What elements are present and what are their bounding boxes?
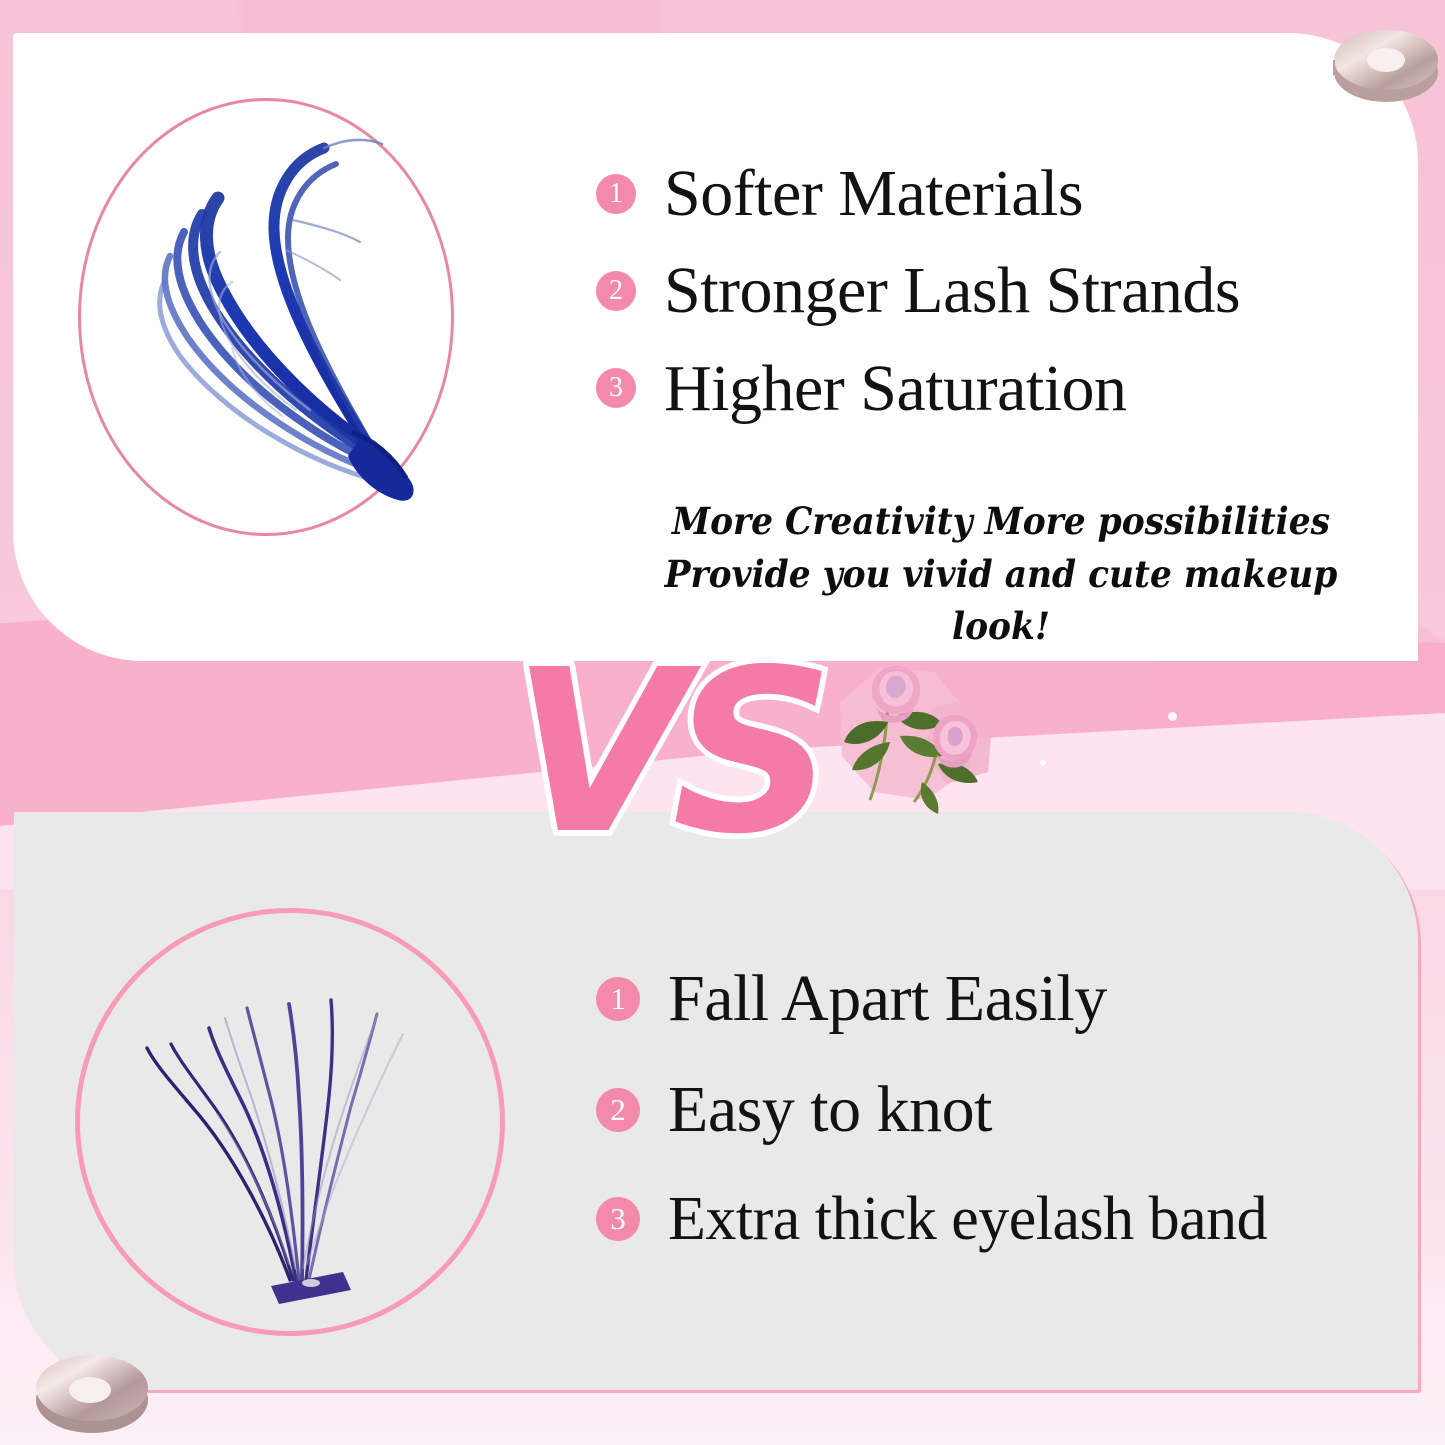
- tagline-line-1: More Creativity More possibilities: [624, 495, 1377, 548]
- list-item: 2 Easy to knot: [596, 1076, 1436, 1143]
- feature-label: Stronger Lash Strands: [664, 257, 1240, 324]
- number-badge: 1: [596, 174, 636, 214]
- number-badge: 3: [596, 1197, 640, 1241]
- advantages-list: 1 Softer Materials 2 Stronger Lash Stran…: [596, 160, 1396, 422]
- vs-emblem: VS VS: [512, 628, 832, 878]
- feature-label: Easy to knot: [668, 1076, 992, 1143]
- feature-label: Softer Materials: [664, 160, 1083, 227]
- feature-label: Fall Apart Easily: [668, 965, 1107, 1032]
- background-dot: [1168, 712, 1177, 721]
- feature-label: Higher Saturation: [664, 355, 1127, 422]
- number-badge: 1: [596, 977, 640, 1021]
- vs-label: VS: [512, 628, 832, 878]
- roses-decoration: [822, 660, 1022, 835]
- ring-icon: [1328, 14, 1445, 119]
- list-item: 3 Higher Saturation: [596, 355, 1396, 422]
- background-dot: [1040, 760, 1046, 766]
- number-badge: 2: [596, 271, 636, 311]
- list-item: 1 Softer Materials: [596, 160, 1396, 227]
- number-badge: 3: [596, 368, 636, 408]
- lash-illustration-bottom: [75, 908, 495, 1328]
- lash-illustration-top: [60, 80, 480, 560]
- list-item: 2 Stronger Lash Strands: [596, 257, 1396, 324]
- ring-icon: [28, 1338, 158, 1445]
- number-badge: 2: [596, 1088, 640, 1132]
- feature-label: Extra thick eyelash band: [668, 1188, 1267, 1251]
- disadvantages-list: 1 Fall Apart Easily 2 Easy to knot 3 Ext…: [596, 965, 1436, 1251]
- list-item: 3 Extra thick eyelash band: [596, 1188, 1436, 1251]
- infographic-root: 1 Softer Materials 2 Stronger Lash Stran…: [0, 0, 1445, 1445]
- list-item: 1 Fall Apart Easily: [596, 965, 1436, 1032]
